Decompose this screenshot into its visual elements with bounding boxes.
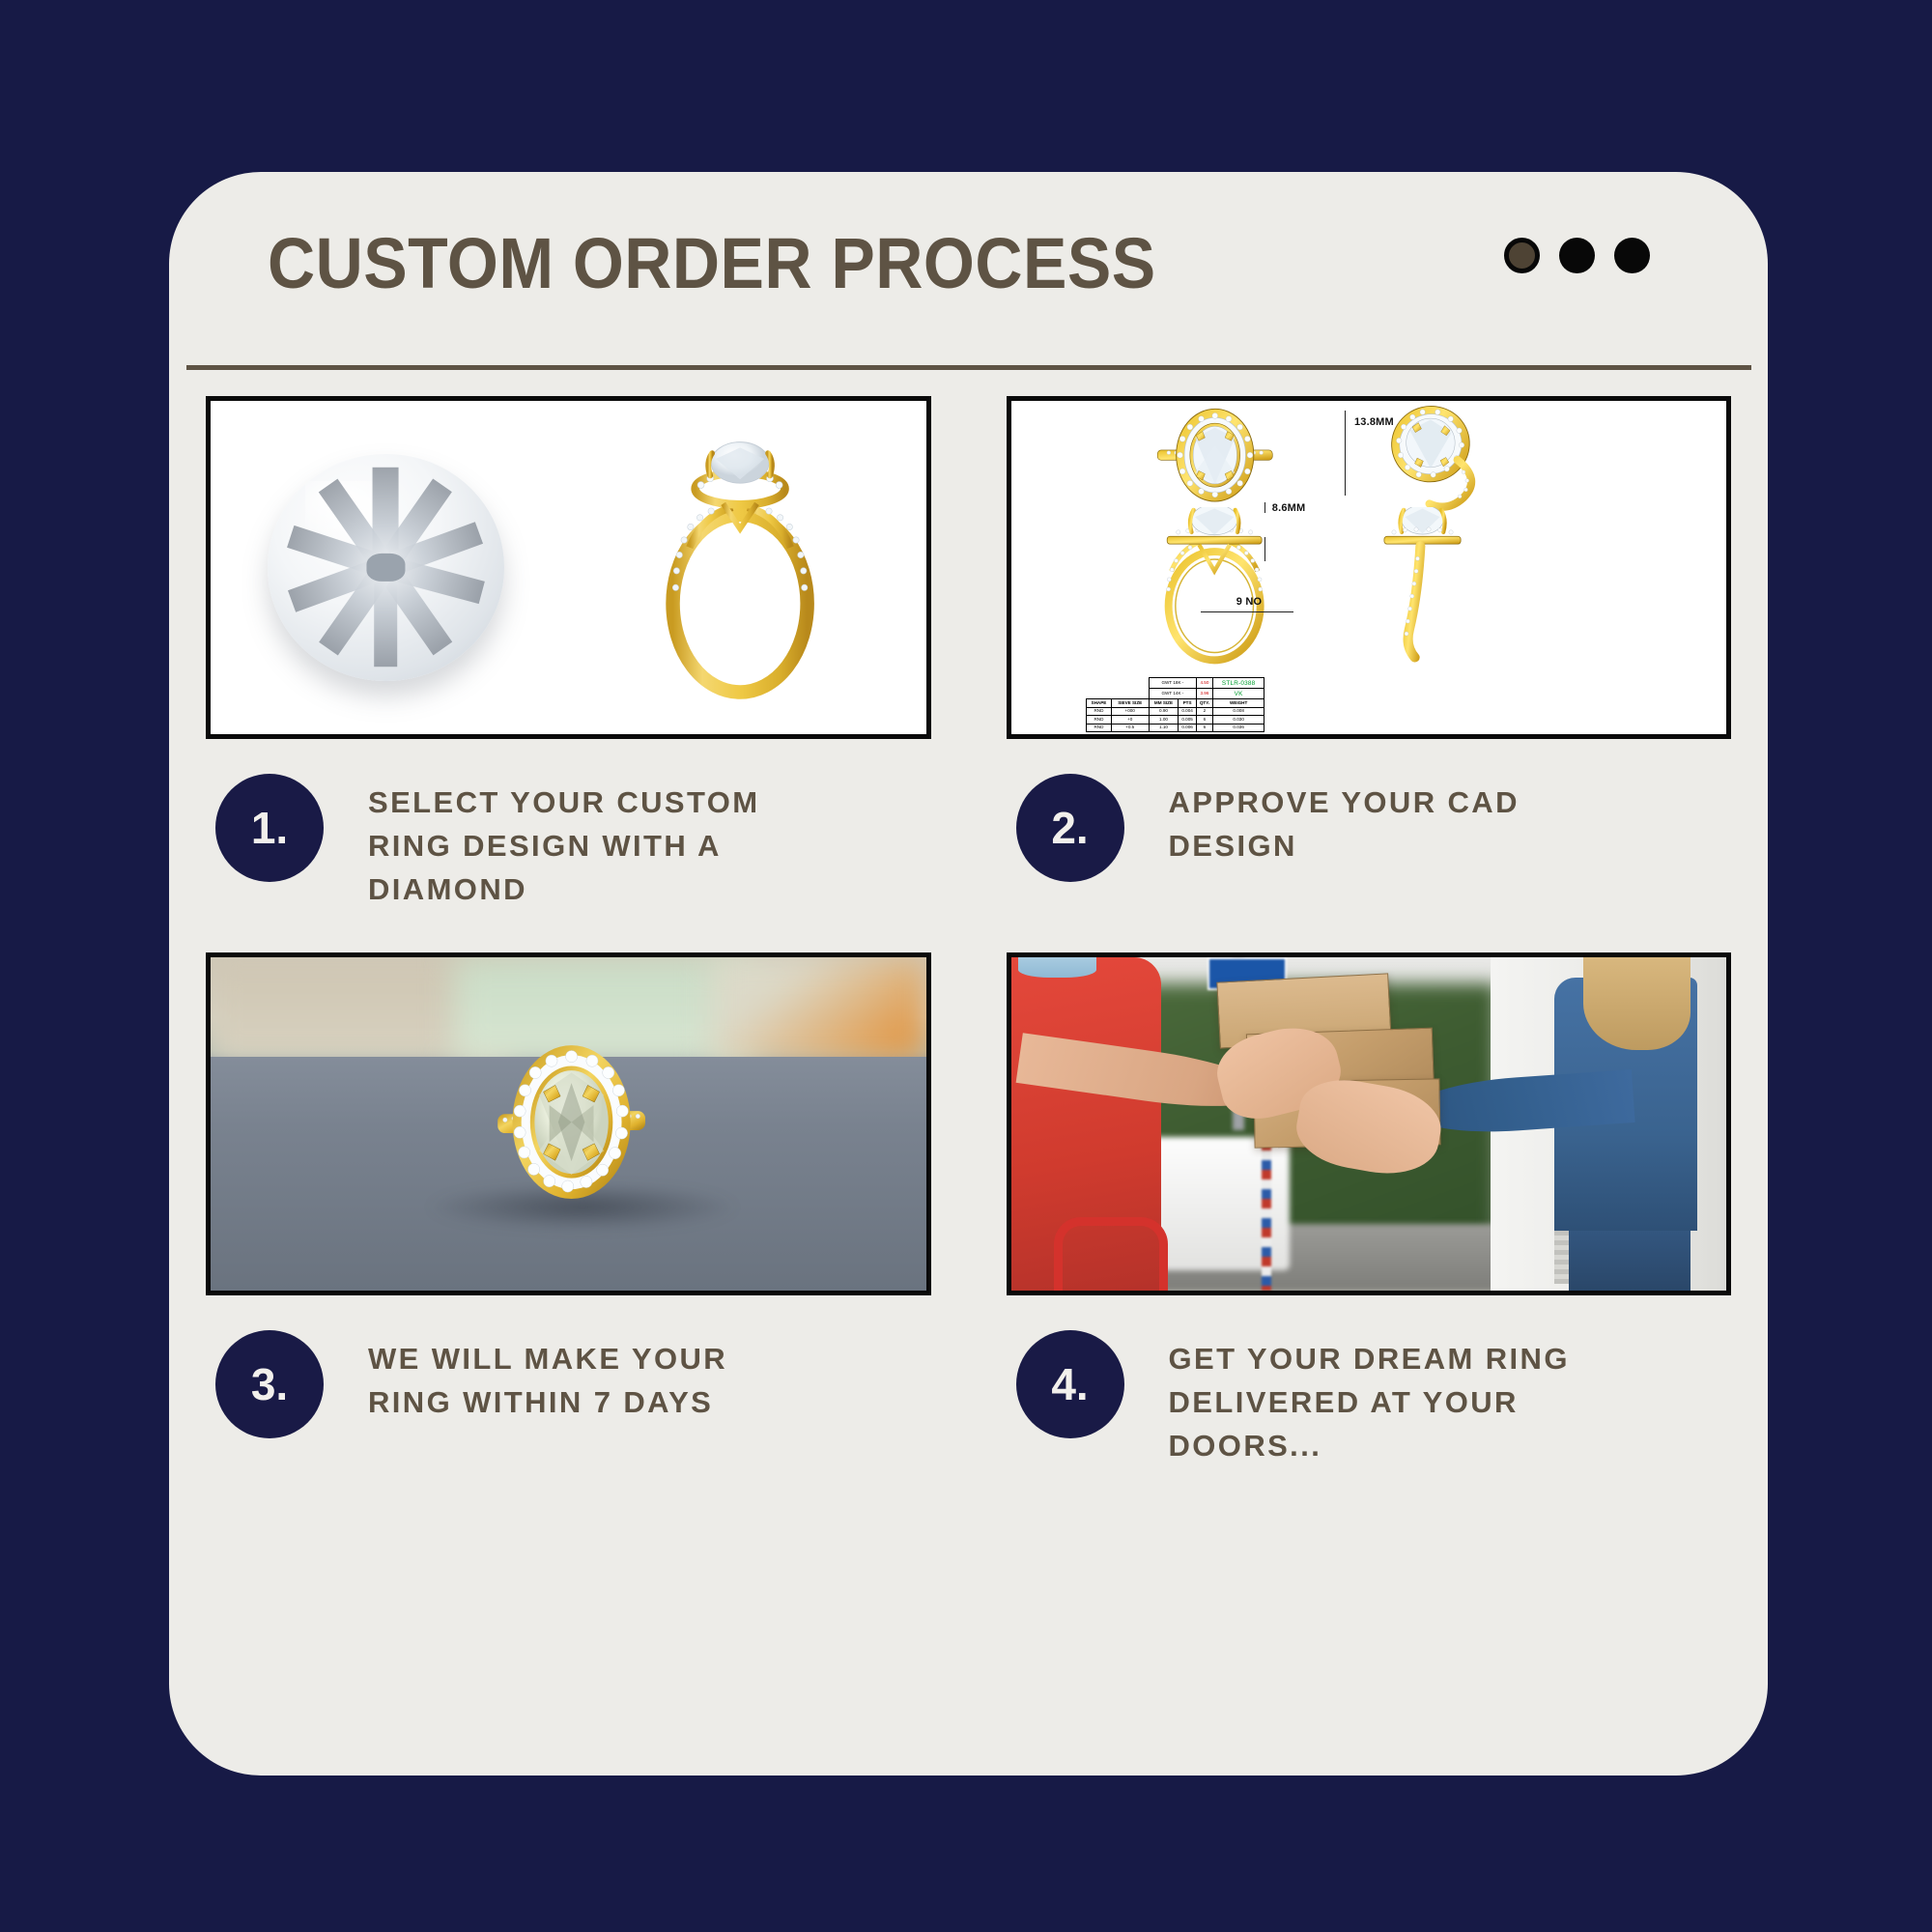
cad-col-mm-size: MM SIZE: [1149, 699, 1178, 707]
cad-cell: 6: [1196, 716, 1212, 724]
cad-spec-table: GWT 18K - 4.50 STLR-0388 GWT 14K - 3.96 …: [1086, 677, 1264, 732]
cad-col-weight: WEIGHT: [1212, 699, 1264, 707]
cad-cell: 0.90: [1149, 707, 1178, 715]
cad-cell: 0.030: [1212, 716, 1264, 724]
cad-drawing-illustration: 13.8MM 8.6MM 9 NO GWT 18K - 4.50: [1011, 401, 1727, 734]
cad-gwt-18k-label: GWT 18K -: [1149, 678, 1196, 689]
cad-table-row: RND +000 0.90 0.004 2 0.008: [1087, 707, 1264, 715]
step-1-image: [206, 396, 931, 739]
finished-ring-photo-illustration: [446, 1024, 696, 1231]
step-4-badge: 4.: [1016, 1330, 1124, 1438]
cad-style-code: STLR-0388: [1212, 678, 1264, 689]
cad-cell: RND: [1087, 724, 1111, 731]
cad-cell: 6: [1196, 724, 1212, 731]
window-dot-tertiary-icon[interactable]: [1614, 238, 1650, 273]
step-2: 13.8MM 8.6MM 9 NO GWT 18K - 4.50: [1007, 396, 1732, 912]
step-1: 1. SELECT YOUR CUSTOM RING DESIGN WITH A…: [206, 396, 931, 912]
window-controls[interactable]: [1504, 238, 1650, 273]
cad-initials: VK: [1212, 689, 1264, 699]
striped-pole: [1262, 1141, 1271, 1291]
cad-cell: 1.00: [1149, 716, 1178, 724]
cad-cell: RND: [1087, 716, 1111, 724]
cad-col-shape: SHAPE: [1087, 699, 1111, 707]
cad-cell: 0.036: [1212, 724, 1264, 731]
cad-dimension-13-8mm: 13.8MM: [1354, 416, 1394, 428]
card-header: CUSTOM ORDER PROCESS: [169, 172, 1768, 365]
steps-grid: 1. SELECT YOUR CUSTOM RING DESIGN WITH A…: [169, 396, 1768, 1468]
step-1-badge: 1.: [215, 774, 324, 882]
cad-dimension-line-13-8mm: [1345, 411, 1346, 496]
cad-dimension-line-9-no: [1201, 611, 1293, 612]
customer-hair: [1583, 957, 1690, 1051]
cad-dimension-tick-8-6mm: [1264, 502, 1265, 513]
process-card: CUSTOM ORDER PROCESS: [169, 172, 1768, 1776]
step-4: 4. GET YOUR DREAM RING DELIVERED AT YOUR…: [1007, 952, 1732, 1468]
photo-background-right: [711, 957, 925, 1061]
cad-cell: +0.5: [1111, 724, 1149, 731]
step-1-caption: 1. SELECT YOUR CUSTOM RING DESIGN WITH A…: [206, 774, 931, 912]
cad-dimension-8-6mm: 8.6MM: [1272, 502, 1306, 514]
cad-gwt-14k-value: 3.96: [1196, 689, 1212, 699]
step-4-image: [1007, 952, 1732, 1295]
step-1-label: SELECT YOUR CUSTOM RING DESIGN WITH A DI…: [368, 781, 774, 912]
cad-table-row: RND +0 1.00 0.005 6 0.030: [1087, 716, 1264, 724]
step-3-badge: 3.: [215, 1330, 324, 1438]
step-4-label: GET YOUR DREAM RING DELIVERED AT YOUR DO…: [1169, 1338, 1584, 1468]
window-dot-primary-icon[interactable]: [1504, 238, 1540, 273]
cad-dimension-leader-8-6mm: [1264, 537, 1265, 560]
step-2-caption: 2. APPROVE YOUR CAD DESIGN: [1007, 774, 1732, 882]
cad-cell: 0.004: [1179, 707, 1197, 715]
face-mask-icon: [1018, 957, 1096, 978]
step-2-label: APPROVE YOUR CAD DESIGN: [1169, 781, 1584, 868]
window-dot-secondary-icon[interactable]: [1559, 238, 1595, 273]
step-3-caption: 3. WE WILL MAKE YOUR RING WITHIN 7 DAYS: [206, 1330, 931, 1438]
cad-cell: 0.006: [1179, 724, 1197, 731]
step-2-image: 13.8MM 8.6MM 9 NO GWT 18K - 4.50: [1007, 396, 1732, 739]
cad-cell: 1.10: [1149, 724, 1178, 731]
step-3: 3. WE WILL MAKE YOUR RING WITHIN 7 DAYS: [206, 952, 931, 1468]
step-2-badge: 2.: [1016, 774, 1124, 882]
cad-dimension-9-no: 9 NO: [1236, 596, 1262, 608]
cad-cell: 2: [1196, 707, 1212, 715]
loose-diamond-illustration: [268, 454, 503, 681]
gold-halo-ring-profile-illustration: [597, 431, 883, 711]
customer-jeans: [1569, 1231, 1690, 1291]
header-divider: [186, 365, 1751, 370]
cad-cell: +000: [1111, 707, 1149, 715]
step-3-image: [206, 952, 931, 1295]
cad-gwt-18k-value: 4.50: [1196, 678, 1212, 689]
cad-cell: 0.005: [1179, 716, 1197, 724]
cad-col-pts: PTS: [1179, 699, 1197, 707]
cad-col-qty: QTY.: [1196, 699, 1212, 707]
cad-cell: +0: [1111, 716, 1149, 724]
cad-cell: 0.008: [1212, 707, 1264, 715]
cad-col-sieve-size: SIEVE SIZE: [1111, 699, 1149, 707]
hand-truck: [1054, 1217, 1168, 1291]
cad-table-row: RND +0.5 1.10 0.006 6 0.036: [1087, 724, 1264, 731]
step-4-caption: 4. GET YOUR DREAM RING DELIVERED AT YOUR…: [1007, 1330, 1732, 1468]
cad-cell: RND: [1087, 707, 1111, 715]
step-3-label: WE WILL MAKE YOUR RING WITHIN 7 DAYS: [368, 1338, 774, 1425]
cad-gwt-14k-label: GWT 14K -: [1149, 689, 1196, 699]
page-title: CUSTOM ORDER PROCESS: [268, 222, 1156, 304]
